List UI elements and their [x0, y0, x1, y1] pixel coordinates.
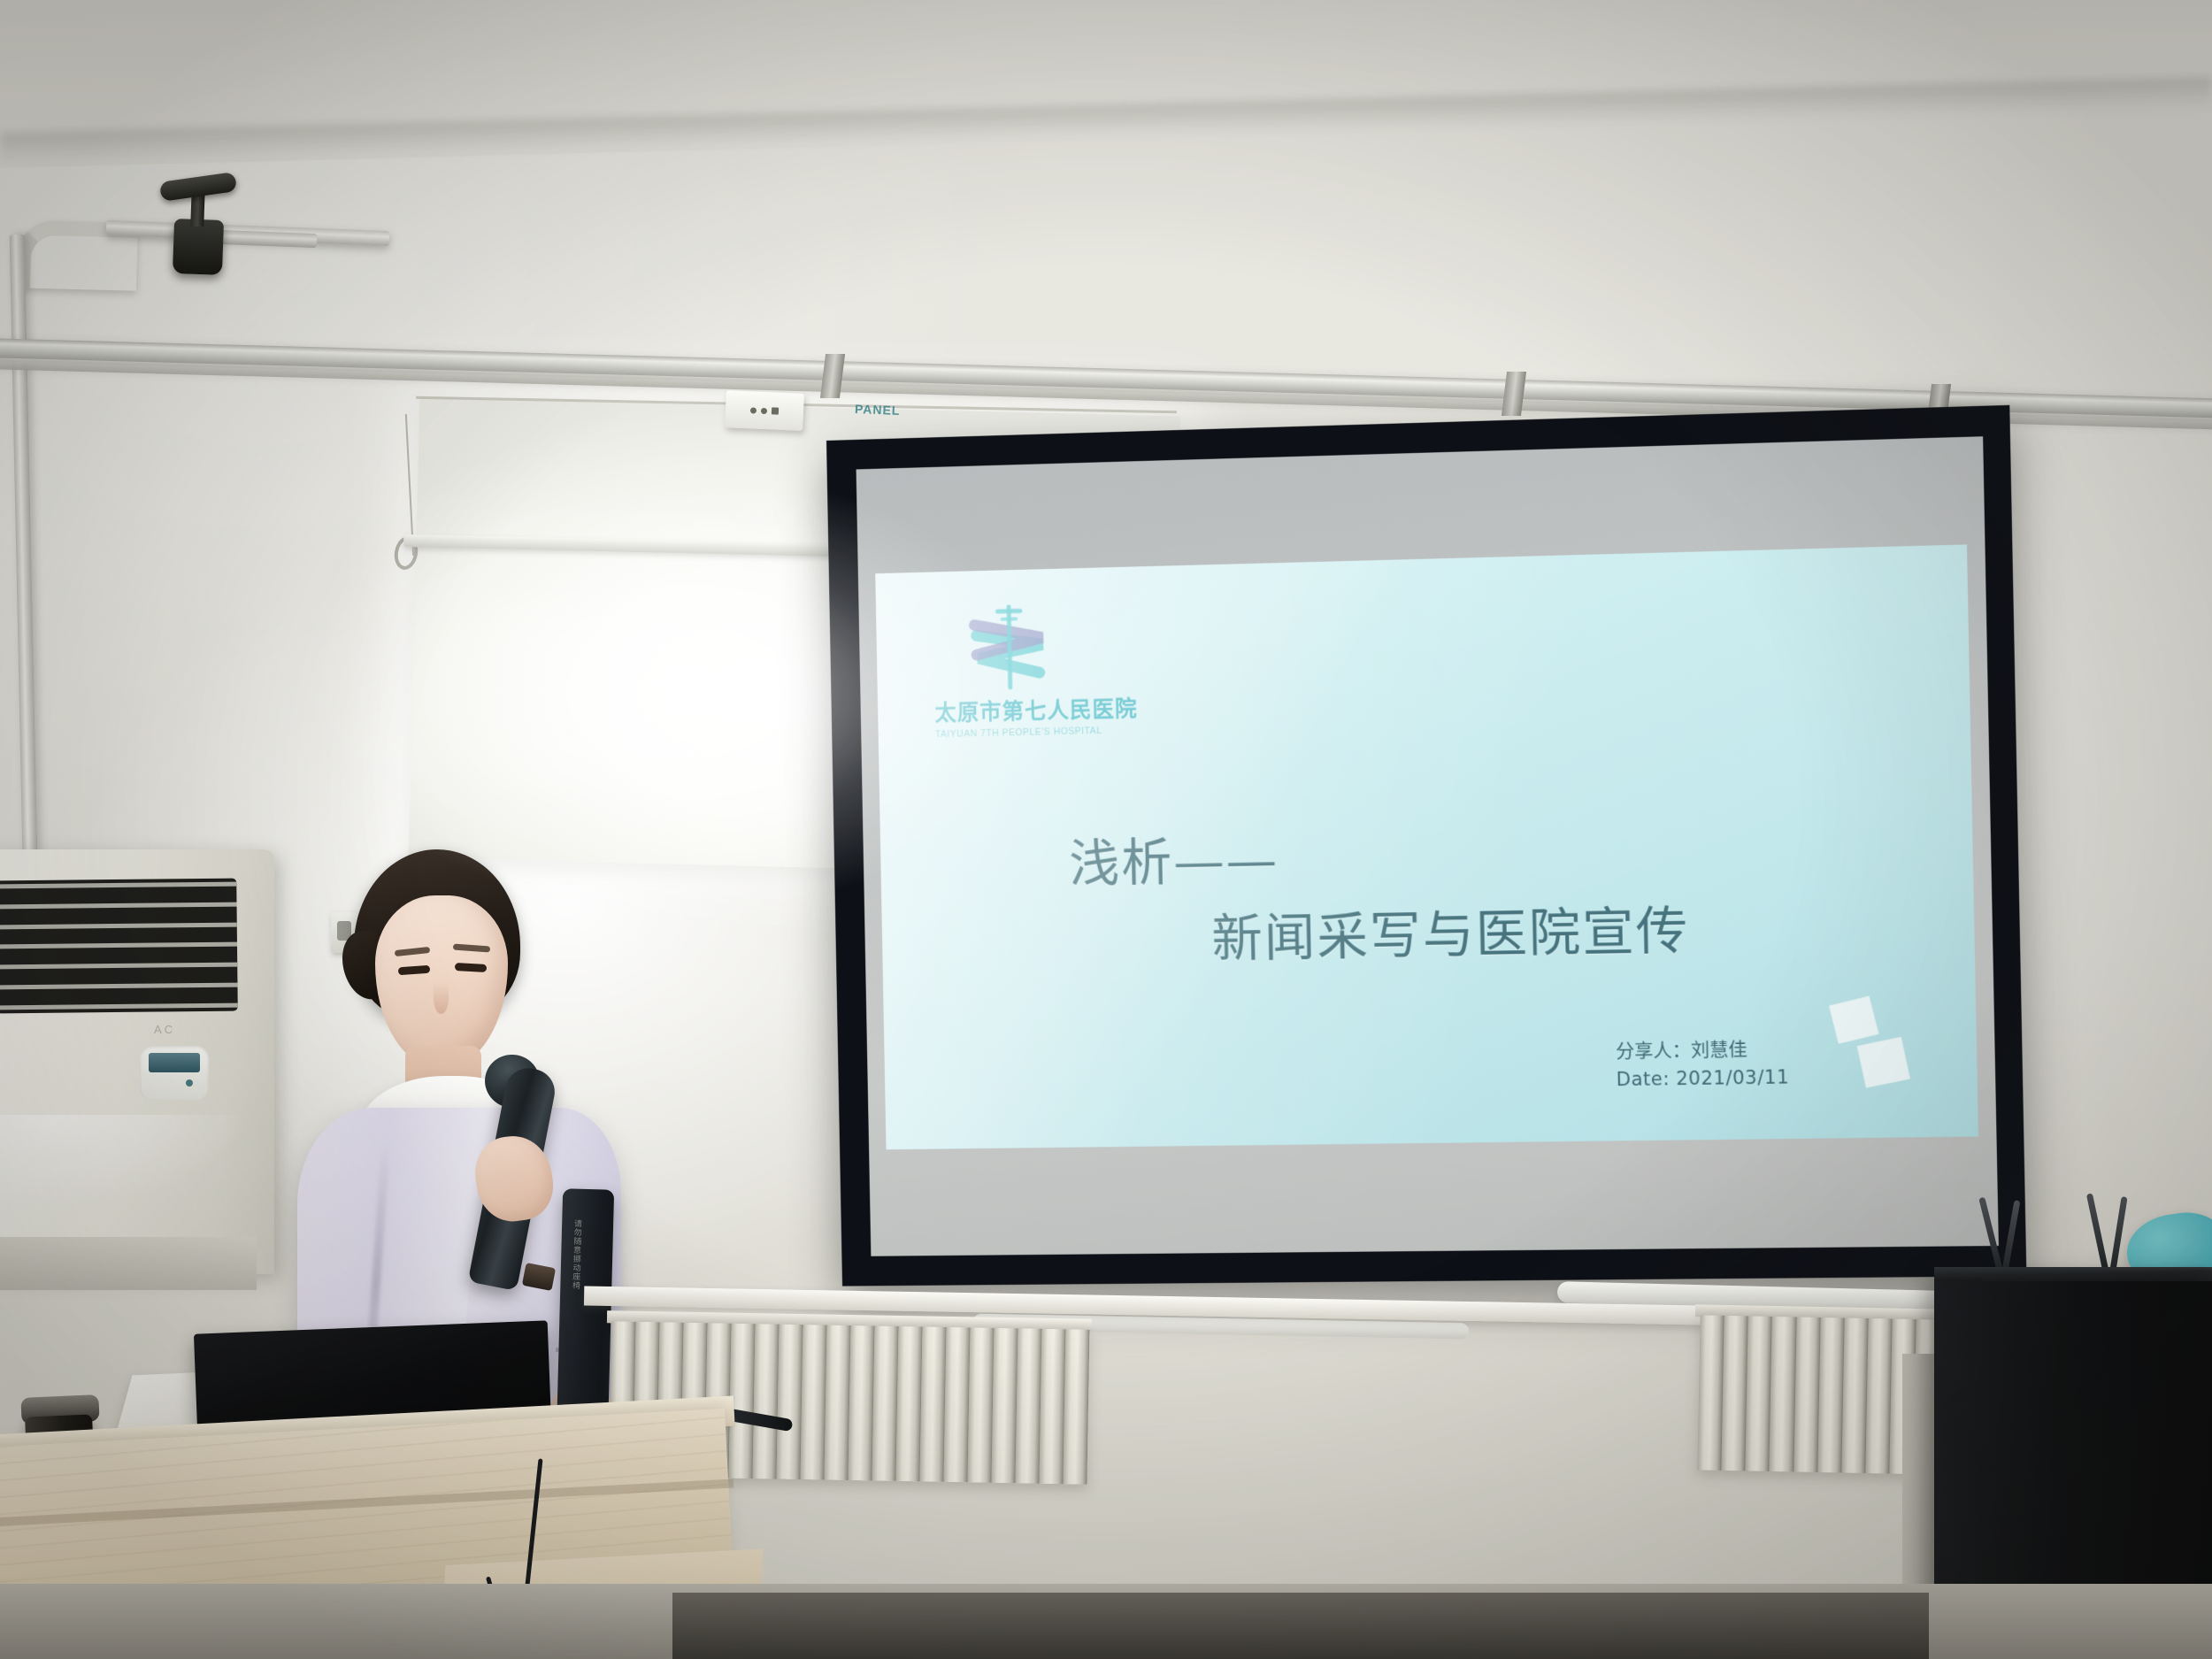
radiator-fin	[872, 1325, 898, 1480]
vent-slat	[0, 942, 237, 949]
projection-screen[interactable]: 太原市第七人民医院 TAIYUAN 7TH PEOPLE'S HOSPITAL …	[826, 405, 2026, 1286]
outlet-dot-icon	[761, 407, 767, 413]
ac-control-panel[interactable]	[140, 1046, 209, 1101]
ac-power-led-icon	[186, 1079, 193, 1087]
hospital-name-chinese: 太原市第七人民医院	[934, 692, 1125, 728]
ac-base	[0, 1237, 257, 1290]
radiator-fin	[800, 1325, 826, 1479]
radiator-fin	[967, 1327, 994, 1482]
slide-title-line-2: 新闻采写与医院宣传	[1211, 888, 1691, 971]
radiator-fin	[1793, 1317, 1820, 1471]
radiator-fin	[848, 1325, 874, 1480]
valve-body-icon	[173, 219, 224, 275]
floor-shadow-area	[672, 1593, 1929, 1659]
radiator-fin	[1865, 1318, 1892, 1473]
radiator-fin	[991, 1328, 1018, 1483]
radiator-fin	[1841, 1317, 1868, 1472]
slide-meta: 分享人：刘慧佳 Date: 2021/03/11	[1616, 1034, 1790, 1094]
hospital-caduceus-logo-icon	[952, 598, 1068, 692]
vent-slat	[0, 1003, 238, 1010]
radiator-fin	[824, 1325, 850, 1480]
radiator-fin	[776, 1325, 803, 1479]
white-diamond-icon	[1857, 1037, 1910, 1088]
radiator-fin	[943, 1327, 970, 1482]
radiator-fin	[1063, 1329, 1089, 1484]
radiator-fin	[1770, 1317, 1796, 1471]
chair-label: 请勿随意挪动座椅	[571, 1219, 584, 1290]
nose	[434, 982, 449, 1014]
vent-slat	[0, 963, 237, 970]
vent-slat	[0, 902, 237, 909]
rail-device-label: PANEL	[855, 402, 901, 418]
ac-display-icon	[149, 1053, 200, 1072]
vent-slat	[0, 922, 237, 929]
presentation-slide: 太原市第七人民医院 TAIYUAN 7TH PEOPLE'S HOSPITAL …	[875, 544, 1978, 1149]
radiator-fin	[1817, 1317, 1844, 1472]
hospital-logo: 太原市第七人民医院 TAIYUAN 7TH PEOPLE'S HOSPITAL	[933, 597, 1125, 741]
radiator-fin	[1721, 1316, 1747, 1471]
vent-slat	[0, 882, 236, 889]
radiator-fin	[919, 1326, 946, 1481]
radiator-fin	[1697, 1315, 1724, 1470]
white-diamond-icon	[1829, 996, 1878, 1044]
hospital-name-english: TAIYUAN 7TH PEOPLE'S HOSPITAL	[935, 725, 1126, 740]
presenter-label: 分享人：刘慧佳	[1616, 1034, 1789, 1066]
date-label: Date: 2021/03/11	[1616, 1064, 1789, 1094]
radiator-fin	[895, 1326, 922, 1481]
outlet-dot-icon	[750, 407, 757, 413]
screen-surface: 太原市第七人民医院 TAIYUAN 7TH PEOPLE'S HOSPITAL …	[856, 436, 1999, 1256]
ac-vent-grille-icon	[0, 879, 238, 1014]
radiator-fin	[1039, 1329, 1065, 1484]
ac-brand-label: AC	[154, 1023, 175, 1036]
vent-slat	[0, 983, 237, 990]
radiator-fin	[1746, 1316, 1772, 1471]
radiator-fin	[1015, 1328, 1041, 1483]
room-photo-scene: PANEL	[0, 0, 2212, 1659]
air-conditioner[interactable]: AC	[0, 849, 274, 1274]
wall-outlet-plate[interactable]	[725, 390, 804, 431]
slide-title-line-1: 浅析——	[1068, 818, 1279, 896]
eye-right	[455, 963, 487, 972]
outlet-square-icon	[772, 407, 779, 414]
slide-decoration	[1820, 994, 1931, 1102]
